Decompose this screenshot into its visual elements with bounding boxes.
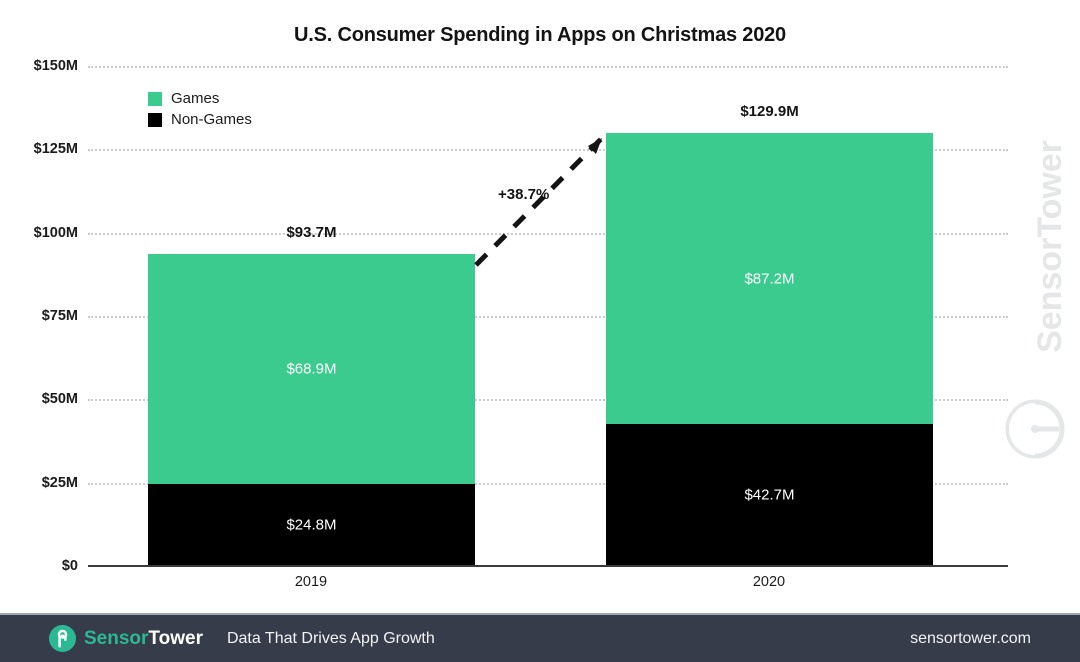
legend-label-games: Games	[171, 90, 219, 107]
bar-group-2020[interactable]: $87.2M $42.7M $129.9M	[606, 133, 933, 566]
y-tick-label-25m: $25M	[2, 475, 78, 491]
y-tick-label-125m: $125M	[2, 141, 78, 157]
growth-percentage-label: +38.7%	[498, 186, 549, 203]
bar-value-label-2020-games: $87.2M	[606, 271, 933, 288]
x-tick-label-2020: 2020	[753, 574, 785, 590]
footer-bar: SensorTower Data That Drives App Growth …	[0, 613, 1080, 662]
bar-value-label-2019-non-games: $24.8M	[148, 517, 475, 534]
bar-segment-2020-non-games[interactable]: $42.7M	[606, 424, 933, 566]
footer-brand: SensorTower	[84, 628, 203, 650]
chart-title: U.S. Consumer Spending in Apps on Christ…	[0, 24, 1080, 47]
bar-segment-2019-non-games[interactable]: $24.8M	[148, 484, 475, 566]
y-tick-label-0: $0	[2, 558, 78, 574]
bar-segment-2020-games[interactable]: $87.2M	[606, 133, 933, 424]
bar-value-label-2019-games: $68.9M	[148, 361, 475, 378]
sensortower-watermark-logo-icon	[1004, 398, 1066, 460]
y-tick-label-50m: $50M	[2, 391, 78, 407]
sensortower-logo-icon	[49, 625, 76, 652]
x-axis-line	[88, 565, 1008, 567]
legend-item-non-games: Non-Games	[148, 109, 252, 130]
bar-total-label-2019: $93.7M	[148, 224, 475, 241]
legend-label-non-games: Non-Games	[171, 111, 252, 128]
plot-region: Games Non-Games $68.9M $24.8M $93.7M $87…	[88, 66, 1008, 566]
legend-swatch-games-icon	[148, 92, 162, 106]
bar-group-2019[interactable]: $68.9M $24.8M $93.7M	[148, 254, 475, 566]
chart-legend: Games Non-Games	[148, 88, 252, 130]
x-tick-label-2019: 2019	[295, 574, 327, 590]
footer-tagline: Data That Drives App Growth	[227, 630, 435, 648]
y-tick-label-150m: $150M	[2, 58, 78, 74]
chart-container: U.S. Consumer Spending in Apps on Christ…	[0, 0, 1080, 613]
bar-segment-2019-games[interactable]: $68.9M	[148, 254, 475, 484]
bar-value-label-2020-non-games: $42.7M	[606, 487, 933, 504]
footer-brand-tower: Tower	[148, 628, 203, 649]
y-tick-label-75m: $75M	[2, 308, 78, 324]
watermark-text: SensorTower	[1031, 140, 1070, 353]
footer-url[interactable]: sensortower.com	[910, 630, 1031, 648]
footer-brand-sensor: Sensor	[84, 628, 148, 649]
legend-item-games: Games	[148, 88, 252, 109]
sensortower-watermark: SensorTower	[1002, 130, 1072, 460]
gridline-150m	[88, 66, 1008, 68]
legend-swatch-non-games-icon	[148, 113, 162, 127]
y-tick-label-100m: $100M	[2, 225, 78, 241]
bar-total-label-2020: $129.9M	[606, 103, 933, 120]
